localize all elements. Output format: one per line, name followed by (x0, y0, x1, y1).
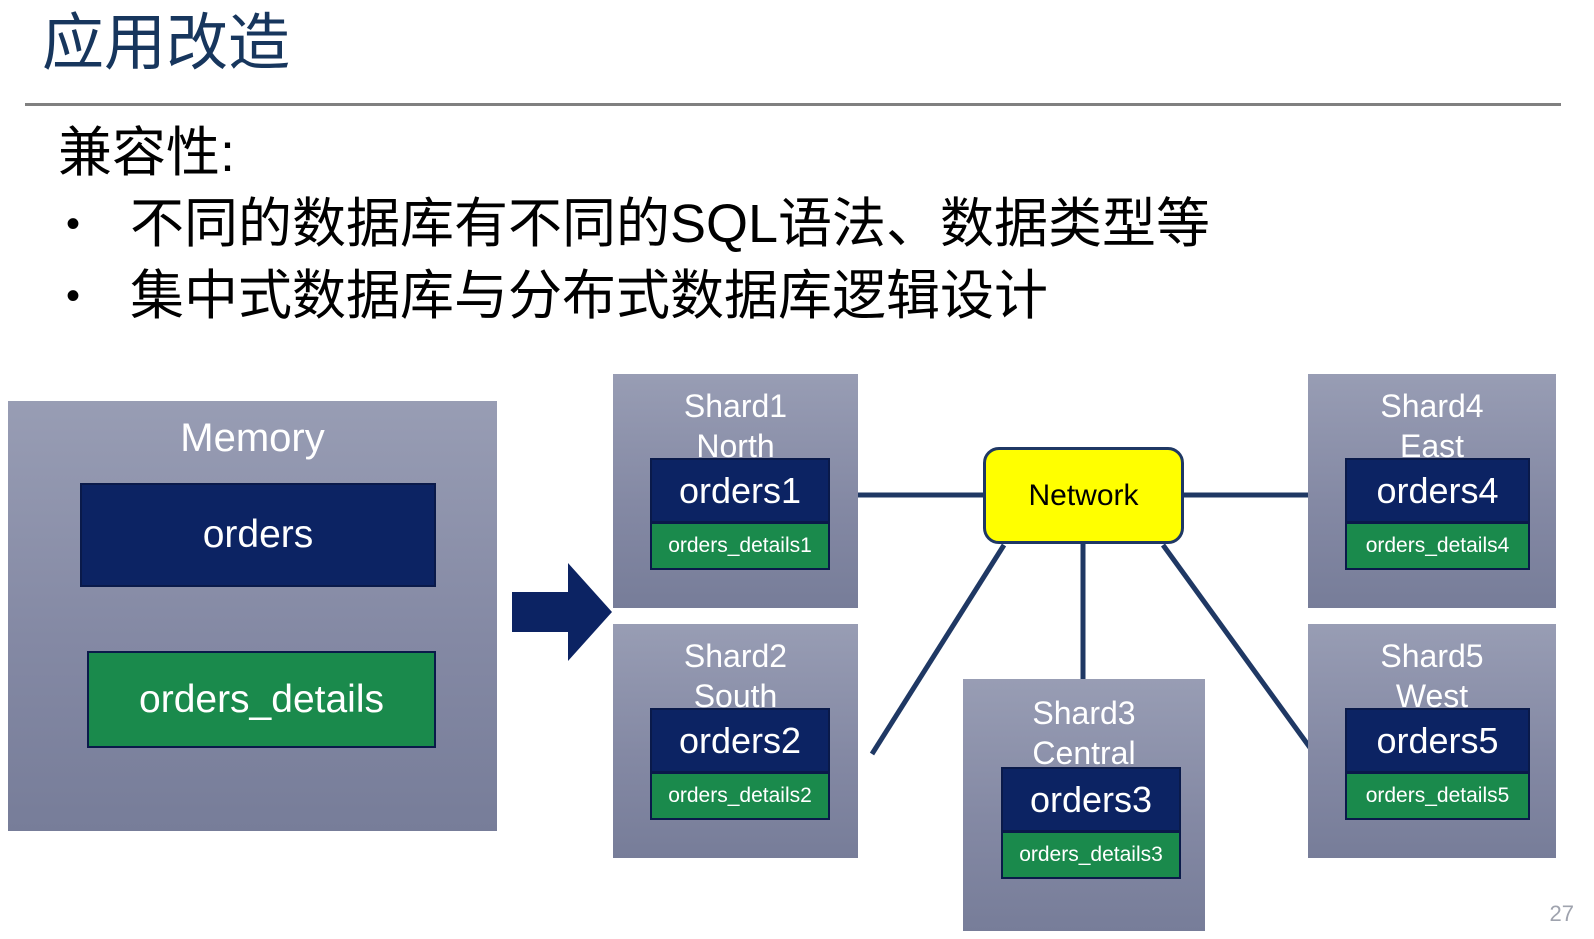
table-orders3: orders3 (1001, 767, 1181, 832)
table-orders1: orders1 (650, 458, 830, 523)
table-orders2: orders2 (650, 708, 830, 773)
memory-panel-title: Memory (8, 415, 497, 461)
shard3-title-line2: Central (1032, 735, 1135, 771)
network-node: Network (983, 447, 1184, 544)
page-number: 27 (1550, 901, 1574, 927)
table-orders5: orders5 (1345, 708, 1530, 773)
shard4-title: Shard4 East (1308, 386, 1556, 466)
shard5-title: Shard5 West (1308, 636, 1556, 716)
memory-panel: Memory orders orders_details (8, 401, 497, 831)
table-orders-details4: orders_details4 (1345, 522, 1530, 570)
table-orders-details5: orders_details5 (1345, 772, 1530, 820)
shard-panel-shard1: Shard1 North orders1 orders_details1 (613, 374, 858, 608)
table-orders: orders (80, 483, 436, 587)
table-orders-details1: orders_details1 (650, 522, 830, 570)
table-orders4: orders4 (1345, 458, 1530, 523)
table-orders-details: orders_details (87, 651, 436, 748)
shard1-title: Shard1 North (613, 386, 858, 466)
shard3-title-line1: Shard3 (1032, 695, 1135, 731)
table-orders-details2: orders_details2 (650, 772, 830, 820)
shard-panel-shard2: Shard2 South orders2 orders_details2 (613, 624, 858, 858)
shard-panel-shard3: Shard3 Central orders3 orders_details3 (963, 679, 1205, 931)
table-orders-details3: orders_details3 (1001, 831, 1181, 879)
shard5-title-line1: Shard5 (1380, 638, 1483, 674)
sharding-diagram: Memory orders orders_details Shard1 Nort… (0, 0, 1594, 939)
shard-panel-shard4: Shard4 East orders4 orders_details4 (1308, 374, 1556, 608)
shard2-title: Shard2 South (613, 636, 858, 716)
shard1-title-line1: Shard1 (684, 388, 787, 424)
transform-arrow-icon (512, 563, 612, 661)
shard-panel-shard5: Shard5 West orders5 orders_details5 (1308, 624, 1556, 858)
shard3-title: Shard3 Central (963, 693, 1205, 773)
shard2-title-line1: Shard2 (684, 638, 787, 674)
shard4-title-line1: Shard4 (1380, 388, 1483, 424)
